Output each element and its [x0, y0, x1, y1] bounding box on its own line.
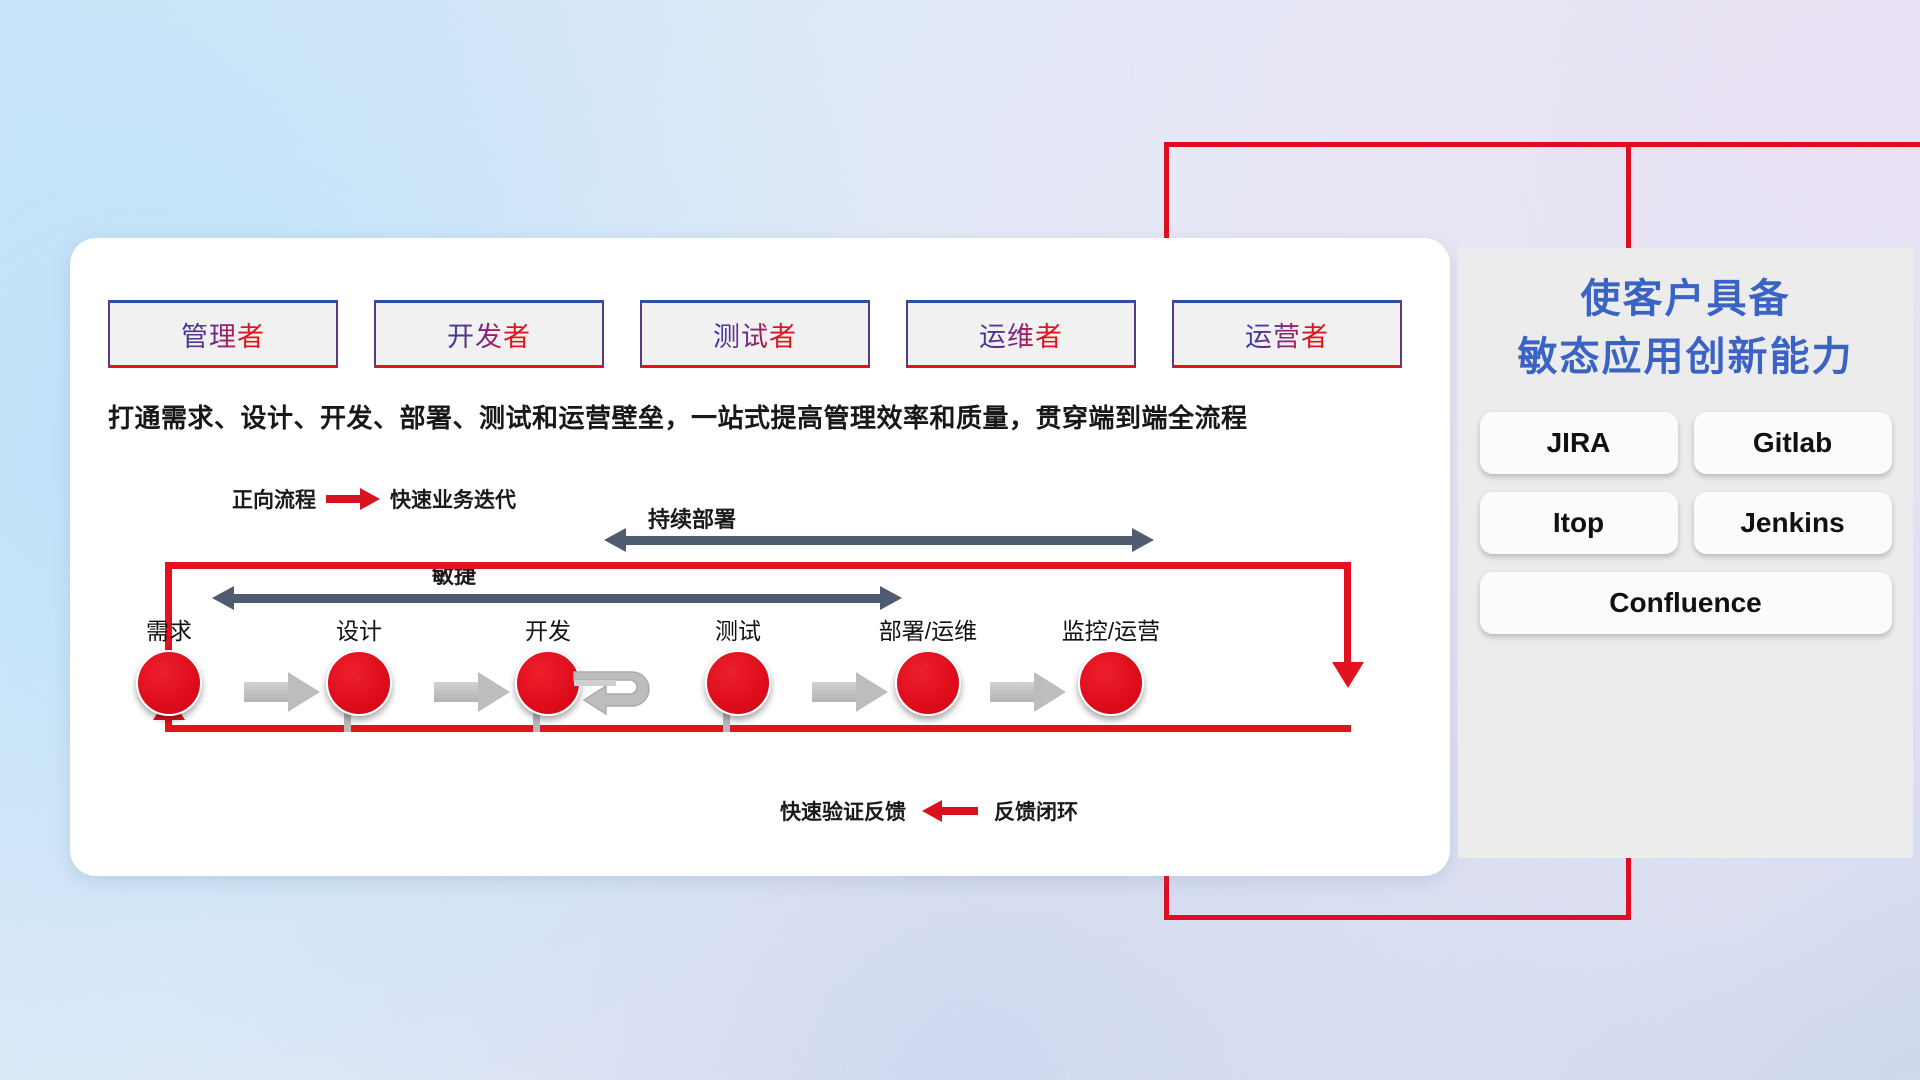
role-box-developer[interactable]: 开发者 — [374, 300, 604, 368]
role-box-business-operator[interactable]: 运营者 — [1172, 300, 1402, 368]
red-arrow-right-icon — [326, 488, 380, 510]
pipeline-node-circle — [895, 650, 961, 716]
pipeline-node-label: 测试 — [673, 612, 803, 646]
tool-pill-jira[interactable]: JIRA — [1480, 412, 1678, 474]
pipeline-node-circle — [136, 650, 202, 716]
pipeline-node-circle — [705, 650, 771, 716]
pipeline-node-label: 部署/运维 — [843, 612, 1013, 646]
red-arrow-left-icon — [922, 800, 978, 822]
role-label: 运营者 — [1245, 315, 1329, 354]
right-panel-title: 使客户具备 敏态应用创新能力 — [1458, 248, 1913, 386]
slide-canvas: 管理者 开发者 测试者 运维者 运营者 打通需求、设计、开发、部署、测试和运营壁… — [0, 0, 1920, 1080]
feedback-loop-top-line — [165, 562, 1351, 569]
role-box-operations-engineer[interactable]: 运维者 — [906, 300, 1136, 368]
right-panel-title-line2: 敏态应用创新能力 — [1458, 328, 1913, 386]
pipeline-node-label: 开发 — [483, 612, 613, 646]
tool-pill-jenkins[interactable]: Jenkins — [1694, 492, 1892, 554]
feedback-loop-bottom-line — [165, 725, 1351, 732]
pipeline-node-label: 需求 — [104, 612, 234, 646]
feedback-loop-arrow-down-icon — [1332, 662, 1364, 688]
role-box-group: 管理者 开发者 测试者 运维者 运营者 — [108, 300, 1402, 368]
red-bracket-bottom — [1164, 915, 1631, 920]
role-label: 开发者 — [447, 315, 531, 354]
tool-pill-gitlab[interactable]: Gitlab — [1694, 412, 1892, 474]
pipeline-node-circle — [1078, 650, 1144, 716]
feedback-loop-right-line — [1344, 562, 1351, 668]
gray-arrow-design-to-development — [434, 672, 510, 712]
agile-double-arrow-icon — [212, 586, 902, 610]
gray-arrow-testing-to-deploy — [812, 672, 888, 712]
tool-pill-group: JIRA Gitlab Itop Jenkins Confluence — [1458, 412, 1913, 634]
feedback-legend: 快速验证反馈 反馈闭环 — [780, 796, 1078, 826]
role-label: 测试者 — [713, 315, 797, 354]
pipeline-node-testing[interactable]: 测试 — [673, 612, 803, 716]
gray-arrow-deploy-to-monitor — [990, 672, 1066, 712]
pipeline-node-requirement[interactable]: 需求 — [104, 612, 234, 716]
forward-flow-source-label: 正向流程 — [232, 484, 316, 514]
gray-arrow-requirement-to-design — [244, 672, 320, 712]
forward-flow-legend: 正向流程 快速业务迭代 — [232, 484, 516, 514]
pipeline-node-circle — [326, 650, 392, 716]
cycle-loop-arrow-icon — [570, 656, 670, 722]
forward-flow-target-label: 快速业务迭代 — [390, 484, 516, 514]
pipeline-node-label: 监控/运营 — [1026, 612, 1196, 646]
red-bracket-left-stub-top — [1164, 142, 1169, 252]
role-box-tester[interactable]: 测试者 — [640, 300, 870, 368]
tool-pill-itop[interactable]: Itop — [1480, 492, 1678, 554]
feedback-source-label: 反馈闭环 — [994, 796, 1078, 826]
right-panel: 使客户具备 敏态应用创新能力 JIRA Gitlab Itop Jenkins … — [1458, 248, 1913, 858]
continuous-deploy-double-arrow-icon — [604, 528, 1154, 552]
red-bracket-top — [1164, 142, 1920, 147]
role-label: 运维者 — [979, 315, 1063, 354]
right-panel-title-line1: 使客户具备 — [1458, 270, 1913, 328]
description-text: 打通需求、设计、开发、部署、测试和运营壁垒，一站式提高管理效率和质量，贯穿端到端… — [108, 398, 1408, 435]
feedback-target-label: 快速验证反馈 — [780, 796, 906, 826]
role-box-manager[interactable]: 管理者 — [108, 300, 338, 368]
pipeline-node-label: 设计 — [294, 612, 424, 646]
role-label: 管理者 — [181, 315, 265, 354]
tool-pill-confluence[interactable]: Confluence — [1480, 572, 1892, 634]
